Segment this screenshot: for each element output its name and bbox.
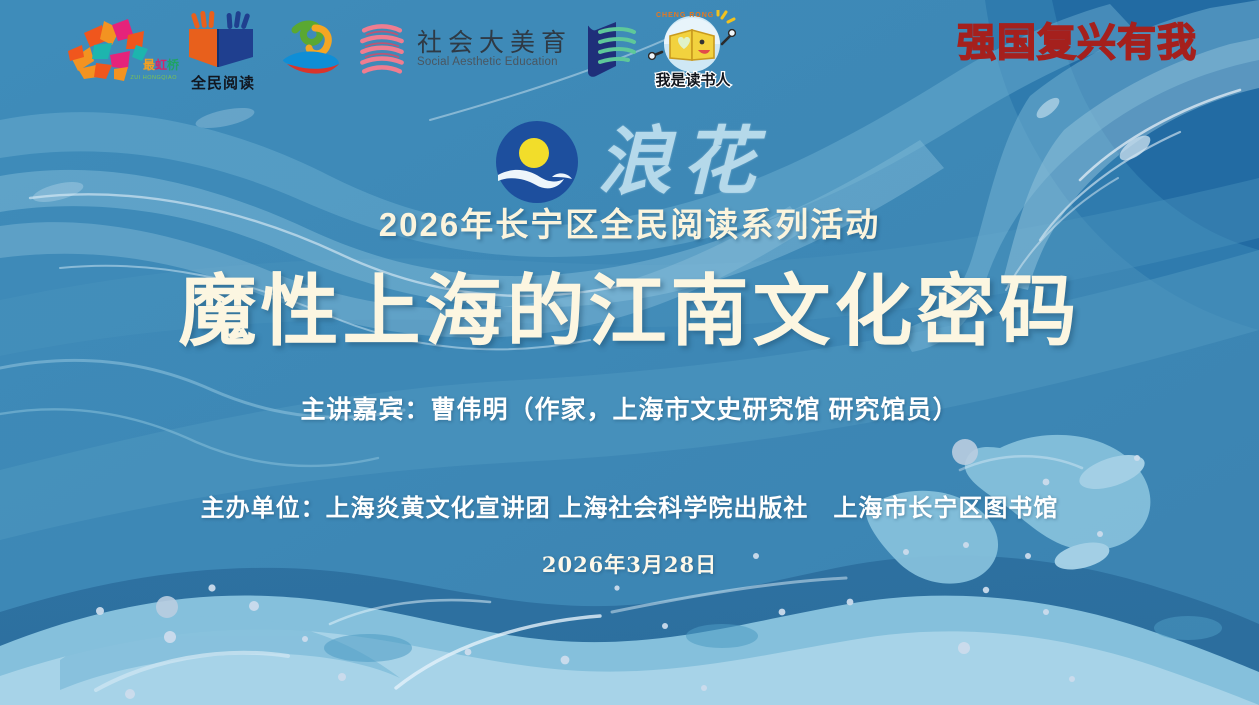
speaker-line: 主讲嘉宾：曹伟明（作家，上海市文史研究馆 研究馆员） (0, 390, 1259, 426)
event-date: 2026年3月28日 (0, 549, 1259, 579)
poster-content: 2026年长宁区全民阅读系列活动 魔性上海的江南文化密码 主讲嘉宾：曹伟明（作家… (0, 205, 1259, 579)
brand-wordmark: 浪花 (598, 125, 766, 199)
event-poster: 最虹桥 ZUI HONGQIAO 全 (0, 0, 1259, 705)
sae-chinese-name: 社会大美育 (417, 30, 572, 56)
zui-hongqiao-text: 最虹桥 (143, 59, 179, 71)
page-title: 魔性上海的江南文化密码 (0, 271, 1259, 353)
wo-shi-du-shu-ren-caption: 我是读书人 (645, 73, 741, 88)
logo-shanghai-swirl (281, 20, 343, 80)
zui-hongqiao-pinyin: ZUI HONGQIAO (130, 75, 177, 81)
organizer-line: 主办单位：上海炎黄文化宣讲团 上海社会科学院出版社 上海市长宁区图书馆 (0, 488, 1259, 523)
open-book-hand-icon (187, 11, 257, 73)
logo-wo-shi-du-shu-ren: CHENG RONG 我是读书人 (648, 10, 736, 90)
sun-wave-circle-icon (494, 119, 580, 205)
quanmin-yuedu-caption: 全民阅读 (179, 76, 267, 91)
logo-library-mark (586, 20, 636, 80)
logo-zui-hongqiao: 最虹桥 ZUI HONGQIAO (50, 15, 175, 85)
brand-mark: 浪花 (0, 112, 1259, 212)
slogan-qiangguo-fuxing-youwo: 强国复兴有我 (957, 24, 1197, 63)
sae-mark-icon (357, 20, 407, 80)
event-series-subtitle: 2026年长宁区全民阅读系列活动 (0, 205, 1259, 245)
mascot-arc-text: CHENG RONG (656, 12, 714, 19)
sae-english-name: Social Aesthetic Education (417, 56, 572, 70)
book-mascot-icon (648, 10, 736, 76)
colour-swirl-icon (281, 20, 343, 80)
logo-social-aesthetic-education: 社会大美育 Social Aesthetic Education (357, 17, 572, 83)
logo-quanmin-yuedu: 全民阅读 (187, 11, 257, 89)
library-book-icon (586, 20, 636, 80)
partner-logo-strip: 最虹桥 ZUI HONGQIAO 全 (0, 0, 1259, 100)
